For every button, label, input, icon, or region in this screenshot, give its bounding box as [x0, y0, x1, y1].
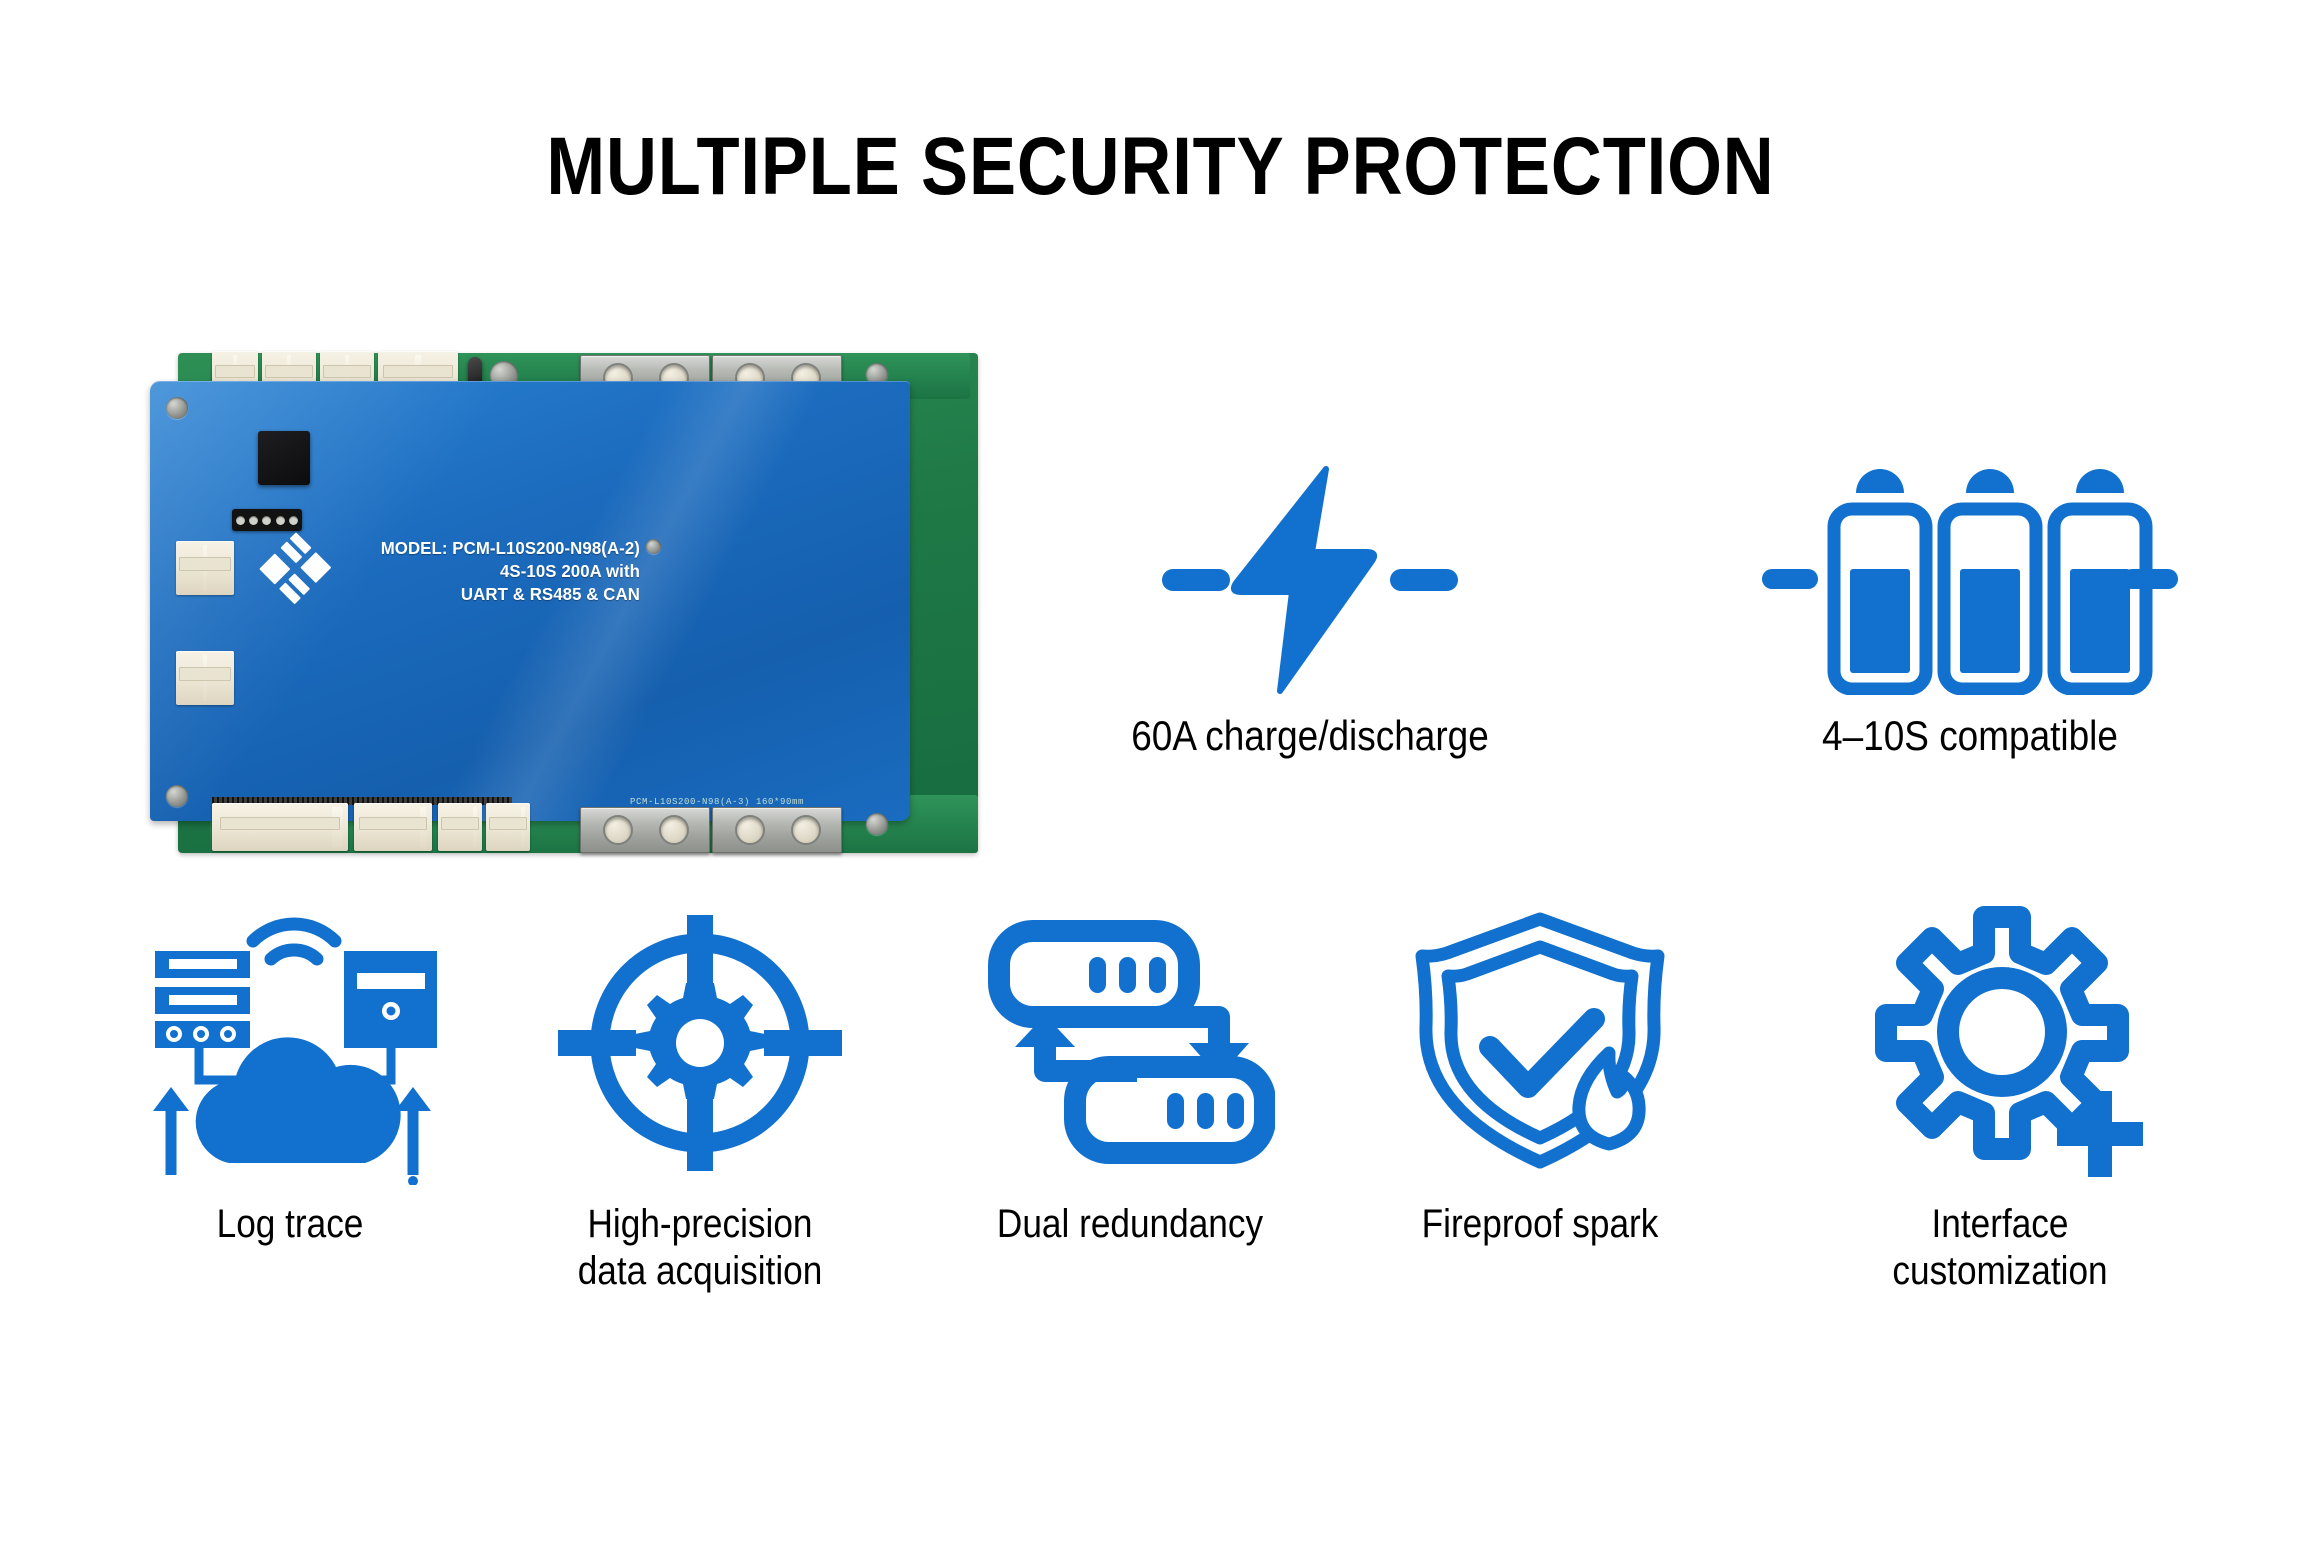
- lightning-bolt-icon: [1030, 455, 1590, 695]
- page-title: MULTIPLE SECURITY PROTECTION: [162, 120, 2158, 214]
- silk-dot: [646, 539, 661, 554]
- battery-stack-icon: [1640, 455, 2300, 695]
- busbar-hole: [791, 815, 821, 845]
- connector-bottom-1: [212, 803, 348, 851]
- gear-plus-icon: [1740, 895, 2260, 1185]
- feature-label: Fireproof spark: [1355, 1201, 1725, 1248]
- board-model-line: MODEL: PCM-L10S200-N98(A-2): [352, 537, 640, 560]
- connector-slot: [489, 817, 528, 830]
- board-silkscreen-text: MODEL: PCM-L10S200-N98(A-2) 4S-10S 200A …: [352, 537, 640, 605]
- busbar-hole: [735, 815, 765, 845]
- cloud-server-icon: [60, 895, 520, 1185]
- connector-slot: [215, 365, 256, 378]
- connector-slot: [441, 817, 480, 830]
- feature-log-trace: Log trace: [60, 895, 520, 1248]
- busbar-hole: [659, 815, 689, 845]
- header-pin: [236, 516, 245, 525]
- board-interface-line: UART & RS485 & CAN: [352, 583, 640, 606]
- pin-header-5p: [232, 509, 302, 531]
- dual-redundancy-icon: [900, 895, 1360, 1185]
- connector-slot: [265, 365, 313, 378]
- feature-label: Log trace: [88, 1201, 493, 1248]
- feature-label: Dual redundancy: [928, 1201, 1333, 1248]
- feature-charge-discharge: 60A charge/discharge: [1030, 455, 1590, 761]
- busbar-bottom-left: [580, 807, 710, 853]
- board-spec-line: 4S-10S 200A with: [352, 560, 640, 583]
- feature-label: 60A charge/discharge: [1064, 711, 1557, 761]
- feature-label: 4–10S compatible: [1680, 711, 2261, 761]
- feature-interface-customization: Interface customization: [1740, 895, 2260, 1295]
- feature-dual-redundancy: Dual redundancy: [900, 895, 1360, 1248]
- cover-screw-top-left: [166, 397, 188, 419]
- connector-slot: [359, 817, 428, 830]
- cover-screw-bottom-left: [166, 785, 188, 807]
- connector-bottom-2: [354, 803, 432, 851]
- board-bottom-marking: PCM-L10S200-N98(A-3) 160*90mm: [630, 797, 804, 807]
- transformer-block: [258, 431, 310, 485]
- header-pin: [262, 516, 271, 525]
- mount-hole-bottom-right: [866, 813, 888, 835]
- shield-flame-icon: [1330, 895, 1750, 1185]
- connector-slot: [383, 365, 453, 378]
- busbar-bottom-right: [712, 807, 842, 853]
- connector-slot: [179, 667, 230, 681]
- header-pin: [289, 516, 298, 525]
- feature-cell-compatibility: 4–10S compatible: [1640, 455, 2300, 761]
- target-gear-icon: [460, 895, 940, 1185]
- connector-bottom-4: [486, 803, 530, 851]
- connector-slot: [220, 817, 340, 830]
- connector-slot: [179, 557, 230, 571]
- feature-fireproof-spark: Fireproof spark: [1330, 895, 1750, 1248]
- feature-label: High-precision data acquisition: [489, 1201, 911, 1295]
- connector-bottom-3: [438, 803, 482, 851]
- feature-high-precision: High-precision data acquisition: [460, 895, 940, 1295]
- header-pin: [249, 516, 258, 525]
- connector-left-bottom: [176, 651, 234, 705]
- connector-left-top: [176, 541, 234, 595]
- connector-slot: [323, 365, 371, 378]
- header-pin: [276, 516, 285, 525]
- busbar-hole: [603, 815, 633, 845]
- product-photo: MODEL: PCM-L10S200-N98(A-2) 4S-10S 200A …: [150, 345, 990, 865]
- feature-label: Interface customization: [1771, 1201, 2229, 1295]
